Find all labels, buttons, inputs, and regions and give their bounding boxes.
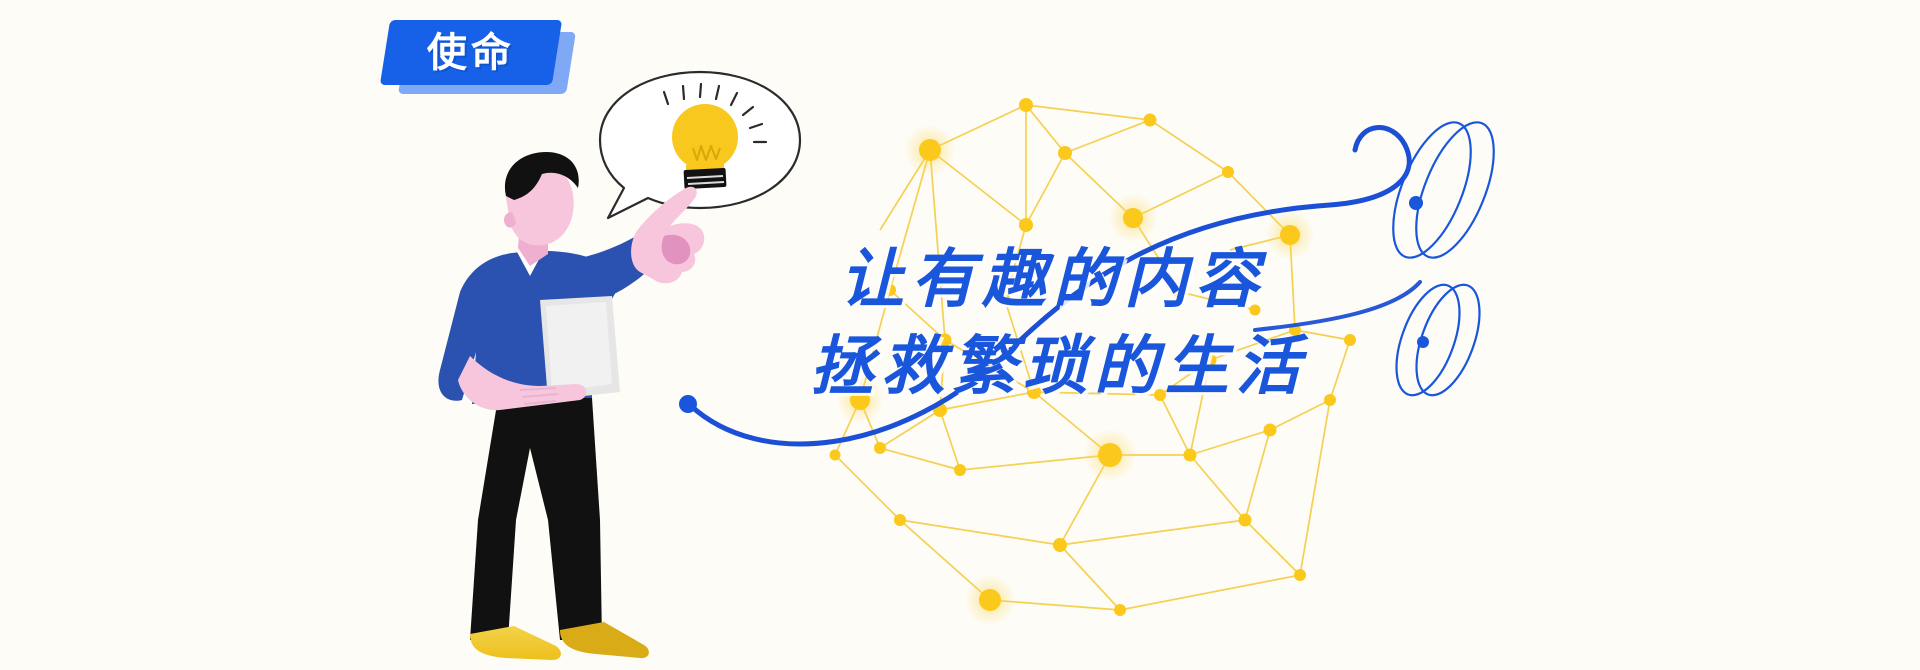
- network-node-large: [836, 376, 884, 424]
- idea-speech-bubble: [600, 72, 800, 218]
- network-node-large: [1083, 428, 1137, 482]
- swoosh-start-dot: [679, 395, 697, 413]
- network-node-small: [1058, 146, 1072, 160]
- network-node-small: [1264, 424, 1277, 437]
- network-node-small: [1294, 569, 1306, 581]
- network-node-small: [1144, 114, 1157, 127]
- network-node-small: [939, 334, 952, 347]
- network-node-small: [1053, 538, 1067, 552]
- orbit-center-dot: [1417, 336, 1429, 348]
- blue-swoosh-curve-secondary: [1255, 282, 1420, 330]
- network-node-large: [904, 124, 956, 176]
- network-node-large: [964, 574, 1016, 626]
- network-node-small: [1019, 98, 1033, 112]
- network-node-small: [1204, 354, 1217, 367]
- network-node-small: [1222, 166, 1234, 178]
- network-edges: [835, 105, 1350, 610]
- network-node-small: [830, 450, 841, 461]
- network-node-small: [894, 514, 906, 526]
- network-node-small: [1019, 218, 1033, 232]
- character-document-inner: [546, 302, 612, 392]
- network-node-small: [884, 284, 896, 296]
- network-node-small: [1027, 385, 1041, 399]
- yellow-node-network: [830, 98, 1357, 626]
- orbit-center-dot: [1409, 196, 1423, 210]
- character-leg-gap: [526, 448, 534, 640]
- network-node-large: [1108, 193, 1158, 243]
- network-node-small: [1184, 449, 1197, 462]
- network-node-small: [1250, 305, 1261, 316]
- pointing-businessman: [438, 152, 704, 660]
- network-node-small: [874, 442, 886, 454]
- network-node-small: [1344, 334, 1356, 346]
- blue-swoosh-curve: [679, 128, 1409, 444]
- network-node-large: [1265, 210, 1315, 260]
- illustration-art-layer: [0, 0, 1920, 670]
- network-node-small: [1114, 604, 1126, 616]
- network-node-small: [1174, 286, 1186, 298]
- network-node-small: [1154, 389, 1166, 401]
- network-node-small: [1239, 514, 1252, 527]
- character-trousers: [470, 398, 602, 640]
- network-node-small: [1000, 295, 1011, 306]
- network-nodes: [830, 98, 1357, 626]
- network-node-small: [1324, 394, 1336, 406]
- mission-banner: 使命: [0, 0, 1920, 670]
- network-node-small: [954, 464, 966, 476]
